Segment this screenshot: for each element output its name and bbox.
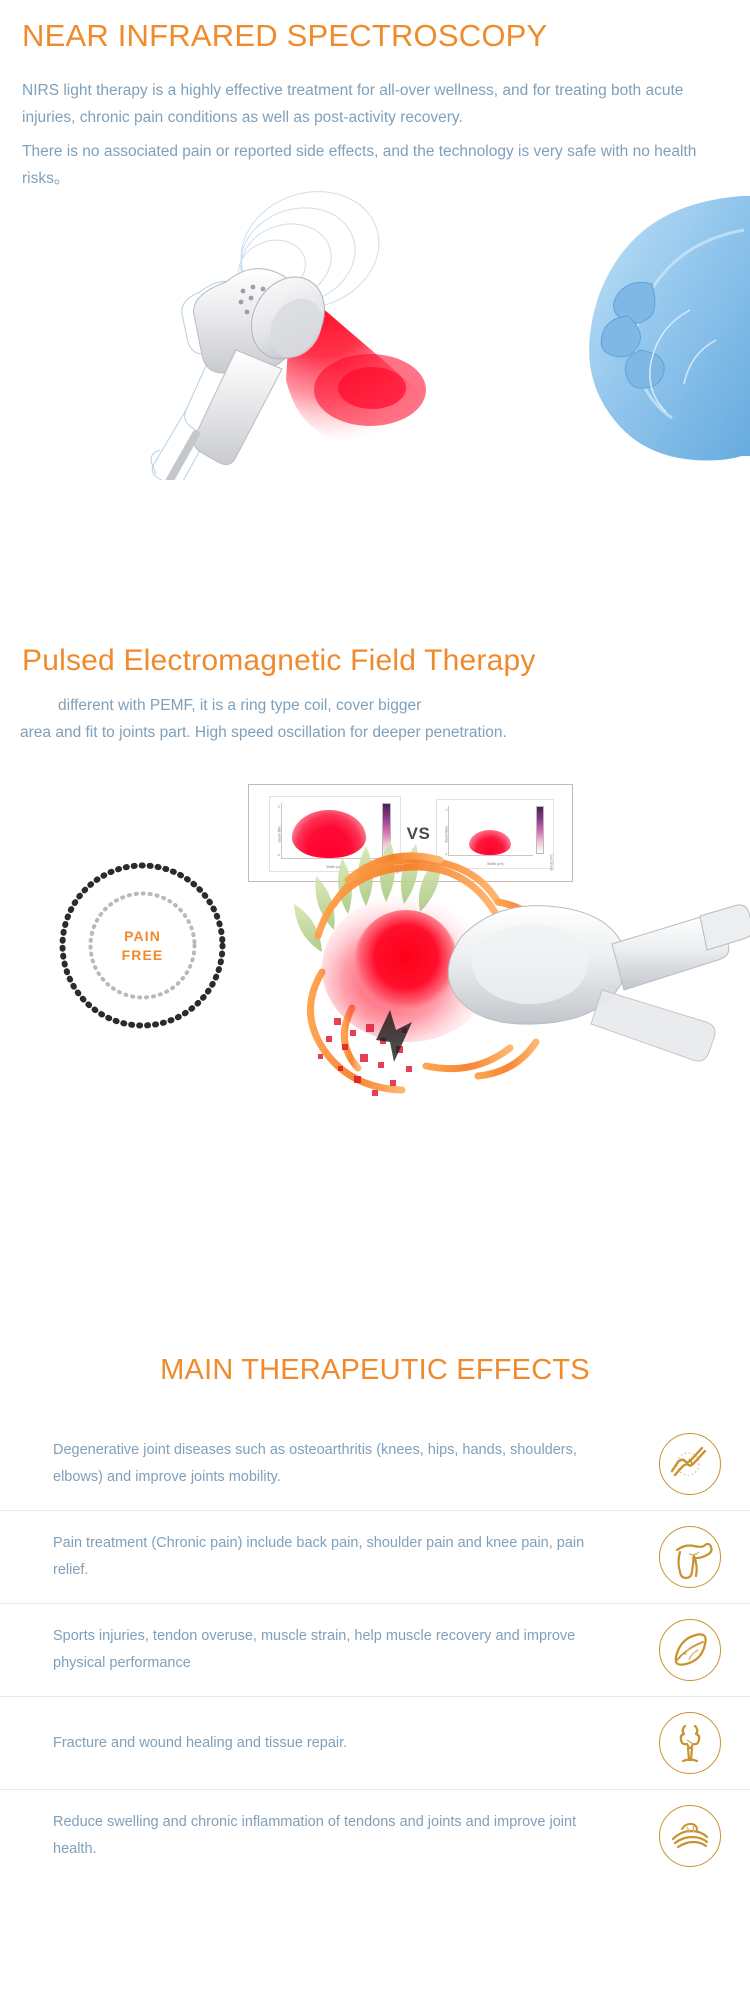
effects-title: MAIN THERAPEUTIC EFFECTS — [0, 1352, 750, 1388]
pemf-hero-illustration — [230, 840, 750, 1160]
shoulder-joint-icon — [659, 1526, 721, 1588]
effect-row: Reduce swelling and chronic inflammation… — [0, 1790, 750, 1882]
nirs-title: NEAR INFRARED SPECTROSCOPY — [22, 18, 547, 54]
pemf-field-core — [354, 910, 458, 1014]
product-infographic-page: NEAR INFRARED SPECTROSCOPY NIRS light th… — [0, 0, 750, 1996]
pemf-line-1: different with PEMF, it is a ring type c… — [58, 692, 421, 720]
effect-icon-wrap — [630, 1433, 750, 1495]
effect-row: Degenerative joint diseases such as oste… — [0, 1418, 750, 1511]
effect-row: Sports injuries, tendon overuse, muscle … — [0, 1604, 750, 1697]
effect-text: Degenerative joint diseases such as oste… — [0, 1437, 630, 1491]
pemf-title: Pulsed Electromagnetic Field Therapy — [22, 643, 536, 679]
effect-icon-wrap — [630, 1526, 750, 1588]
effect-text: Fracture and wound healing and tissue re… — [0, 1730, 630, 1757]
effect-text: Sports injuries, tendon overuse, muscle … — [0, 1623, 630, 1677]
nirs-hero-illustration — [0, 190, 750, 480]
shoulder-anatomy-illustration — [589, 196, 750, 461]
effect-icon-wrap — [630, 1619, 750, 1681]
pain-free-line-1: PAIN — [124, 927, 161, 946]
effect-row: Pain treatment (Chronic pain) include ba… — [0, 1511, 750, 1604]
nirs-paragraph-1: NIRS light therapy is a highly effective… — [22, 77, 732, 131]
effect-icon-wrap — [630, 1712, 750, 1774]
effect-row: Fracture and wound healing and tissue re… — [0, 1697, 750, 1790]
pemf-line-2: area and fit to joints part. High speed … — [20, 719, 507, 747]
knee-joint-icon — [659, 1433, 721, 1495]
effects-list: Degenerative joint diseases such as oste… — [0, 1418, 750, 1882]
effect-text: Reduce swelling and chronic inflammation… — [0, 1809, 630, 1863]
muscle-leaf-icon — [659, 1619, 721, 1681]
ytick-0: 0 — [446, 808, 448, 812]
ytick-0: 0 — [278, 805, 280, 809]
pain-free-line-2: FREE — [122, 946, 164, 965]
pain-free-label: PAIN FREE — [55, 858, 230, 1033]
pain-free-badge: PAIN FREE — [55, 858, 230, 1033]
hands-joint-icon — [659, 1805, 721, 1867]
effect-text: Pain treatment (Chronic pain) include ba… — [0, 1530, 630, 1584]
pemf-device — [448, 905, 750, 1061]
bone-fracture-icon — [659, 1712, 721, 1774]
nirs-paragraph-2: There is no associated pain or reported … — [22, 138, 722, 192]
effect-icon-wrap — [630, 1805, 750, 1867]
